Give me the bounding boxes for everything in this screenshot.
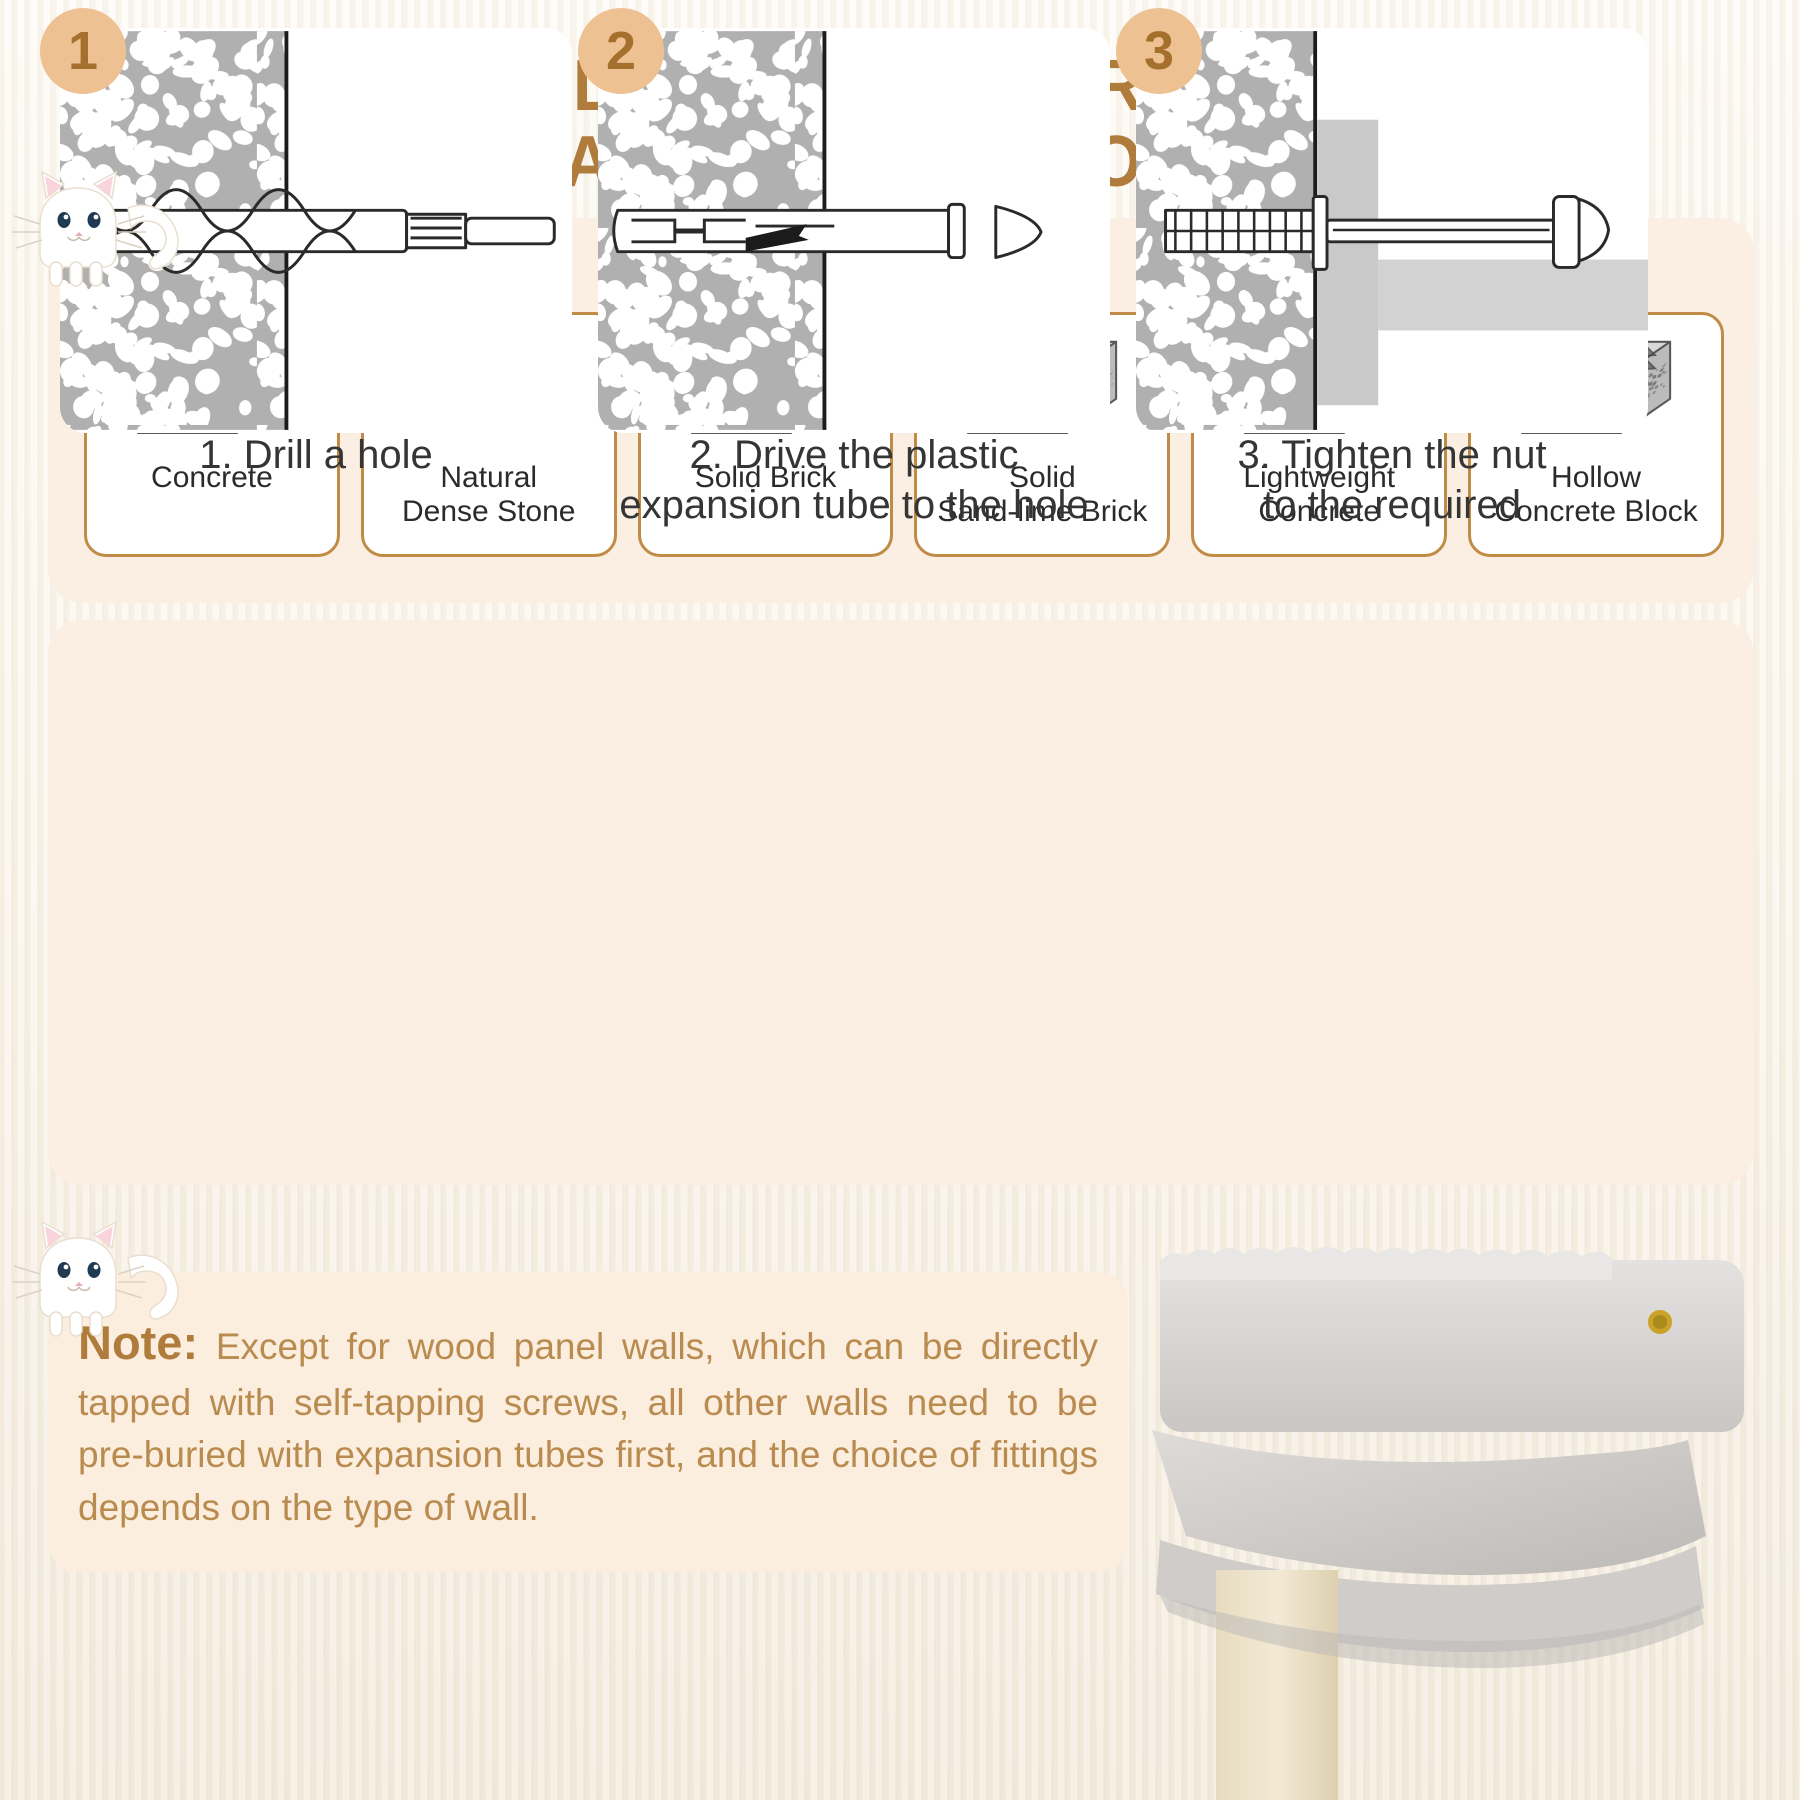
step-number-badge: 2 (578, 8, 664, 94)
step-caption: 2. Drive the plasticexpansion tube to th… (598, 430, 1110, 550)
step-caption: 1. Drill a hole (60, 430, 572, 550)
step-figures-row: 1 2 (60, 28, 1648, 433)
steps-panel (48, 620, 1754, 1185)
step-number-badge: 3 (1116, 8, 1202, 94)
step-captions-row: 1. Drill a hole2. Drive the plasticexpan… (60, 430, 1648, 550)
step-figure (598, 28, 1110, 433)
cat-wall-shelf-photo (1040, 1240, 1800, 1800)
step-figure (1136, 28, 1648, 433)
step-panel: 2 (598, 28, 1110, 433)
note-label: Note: (78, 1316, 198, 1369)
step-panel: 1 (60, 28, 572, 433)
step-figure (60, 28, 572, 433)
step-number-badge: 1 (40, 8, 126, 94)
note-body-text: Except for wood panel walls, which can b… (78, 1326, 1098, 1528)
step-panel: 3 (1136, 28, 1648, 433)
step-caption: 3. Tighten the nutto the required (1136, 430, 1648, 550)
note-text: Note: Except for wood panel walls, which… (78, 1310, 1098, 1534)
